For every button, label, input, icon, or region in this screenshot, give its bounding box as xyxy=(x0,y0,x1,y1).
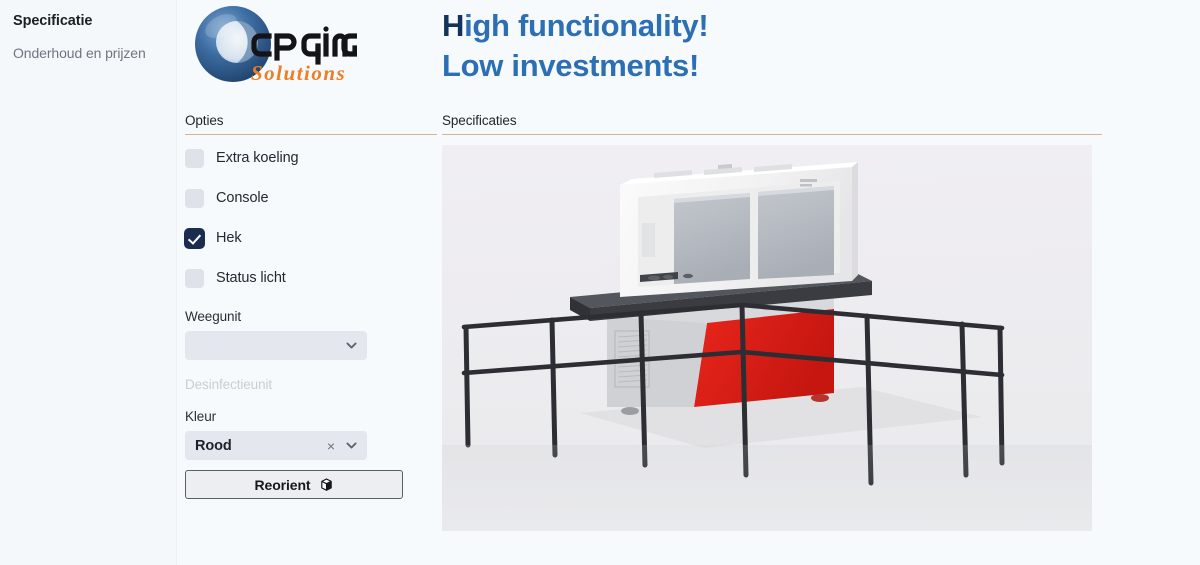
option-row-console[interactable]: Console xyxy=(185,186,437,210)
specificaties-panel: Specificaties xyxy=(442,113,1102,531)
select-weegunit[interactable] xyxy=(185,331,367,360)
headline-line-1-cap: H xyxy=(442,8,464,43)
clear-icon[interactable]: × xyxy=(327,438,335,454)
reorient-button[interactable]: Reorient xyxy=(185,470,403,499)
svg-text:Solutions: Solutions xyxy=(251,61,346,85)
field-group-kleur: Kleur Rood × xyxy=(185,409,437,460)
headline-line-1: High functionality! xyxy=(442,6,708,46)
sidebar-item-specificatie[interactable]: Specificatie xyxy=(13,12,176,31)
cpqing-solutions-logo-icon: Solutions xyxy=(185,2,357,94)
option-label-status-licht: Status licht xyxy=(216,270,286,286)
chevron-down-icon[interactable] xyxy=(344,338,359,353)
option-label-console: Console xyxy=(216,190,269,206)
option-label-hek: Hek xyxy=(216,230,242,246)
specificaties-panel-header: Specificaties xyxy=(442,113,1102,135)
sidebar-item-onderhoud-en-prijzen[interactable]: Onderhoud en prijzen xyxy=(13,44,176,62)
sidebar: Specificatie Onderhoud en prijzen xyxy=(0,0,177,565)
headline-line-1-rest: igh functionality! xyxy=(464,8,708,43)
chevron-down-icon[interactable] xyxy=(344,438,359,453)
select-kleur-value: Rood xyxy=(195,438,327,454)
app-root: Specificatie Onderhoud en prijzen xyxy=(0,0,1200,565)
reorient-button-label: Reorient xyxy=(255,477,311,493)
checkbox-extra-koeling[interactable] xyxy=(185,149,204,168)
label-kleur: Kleur xyxy=(185,409,437,424)
marketing-headline: High functionality! Low investments! xyxy=(442,6,708,86)
field-group-desinfectieunit: Desinfectieunit xyxy=(185,377,437,392)
cube-3d-icon xyxy=(319,477,334,493)
top-band: Solutions High functionality! Low invest… xyxy=(177,0,1200,110)
brand-logo: Solutions xyxy=(185,2,357,94)
field-group-weegunit: Weegunit xyxy=(185,309,437,360)
options-panel-header: Opties xyxy=(185,113,437,135)
options-panel: Opties Extra koeling Console Hek Status … xyxy=(185,113,437,499)
checkbox-status-licht[interactable] xyxy=(185,269,204,288)
model-viewer-3d[interactable] xyxy=(442,145,1092,531)
options-checkbox-list: Extra koeling Console Hek Status licht xyxy=(185,146,437,290)
headline-line-2: Low investments! xyxy=(442,46,708,86)
option-label-extra-koeling: Extra koeling xyxy=(216,150,299,166)
select-kleur[interactable]: Rood × xyxy=(185,431,367,460)
label-desinfectieunit: Desinfectieunit xyxy=(185,377,437,392)
main-content: Solutions High functionality! Low invest… xyxy=(177,0,1200,565)
option-row-hek[interactable]: Hek xyxy=(185,226,437,250)
machine-3d-model xyxy=(442,145,1092,531)
checkbox-hek[interactable] xyxy=(185,229,204,248)
option-row-extra-koeling[interactable]: Extra koeling xyxy=(185,146,437,170)
checkbox-console[interactable] xyxy=(185,189,204,208)
option-row-status-licht[interactable]: Status licht xyxy=(185,266,437,290)
label-weegunit: Weegunit xyxy=(185,309,437,324)
